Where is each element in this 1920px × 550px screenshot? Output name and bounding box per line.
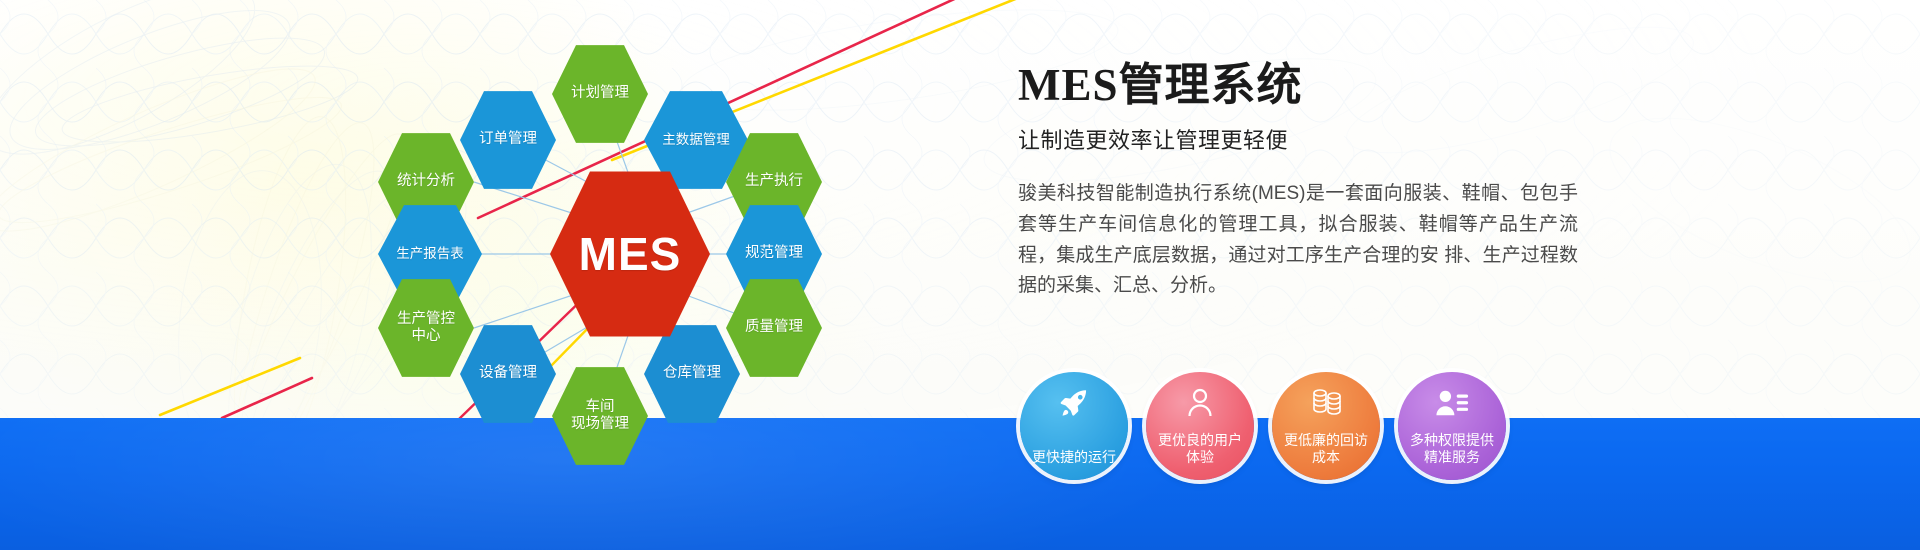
hex-label: 车间现场管理 <box>565 399 635 433</box>
badge-label: 更快捷的运行 <box>1024 449 1124 466</box>
rocket-icon <box>1057 386 1091 420</box>
mes-hexagon-diagram: 计划管理 订单管理 主数据管理 统计分析 生产执行 生产报告表 规范管理 生产管… <box>400 10 860 450</box>
badge-label: 多种权限提供精准服务 <box>1402 432 1502 466</box>
badge-label: 更优良的用户体验 <box>1150 432 1250 466</box>
user-list-icon <box>1435 386 1469 420</box>
badge-label: 更低廉的回访成本 <box>1276 432 1376 466</box>
badge-multi-permission-service[interactable]: 多种权限提供精准服务 <box>1398 372 1506 480</box>
mes-banner: 计划管理 订单管理 主数据管理 统计分析 生产执行 生产报告表 规范管理 生产管… <box>0 0 1920 550</box>
hex-label: 生产管控中心 <box>391 311 461 345</box>
hex-label: 主数据管理 <box>656 132 736 148</box>
hex-label: 计划管理 <box>565 85 635 102</box>
hex-label: 规范管理 <box>739 245 809 262</box>
hex-label: 设备管理 <box>473 365 543 382</box>
badge-better-user-experience[interactable]: 更优良的用户体验 <box>1146 372 1254 480</box>
hex-label: 统计分析 <box>391 173 461 190</box>
bottom-blue-band <box>0 418 1920 550</box>
hex-label: 生产执行 <box>739 173 809 190</box>
feature-badge-list: 更快捷的运行 更优良的用户体验 <box>1020 372 1506 480</box>
hex-label: 生产报告表 <box>390 246 470 262</box>
coins-icon <box>1309 386 1343 420</box>
badge-faster-operation[interactable]: 更快捷的运行 <box>1020 372 1128 480</box>
description-paragraph: 骏美科技智能制造执行系统(MES)是一套面向服装、鞋帽、包包手套等生产车间信息化… <box>1018 179 1578 302</box>
badge-lower-revisit-cost[interactable]: 更低廉的回访成本 <box>1272 372 1380 480</box>
hex-label: 订单管理 <box>473 131 543 148</box>
hex-center-label: MES <box>573 227 688 281</box>
hex-label: 质量管理 <box>739 319 809 336</box>
user-icon <box>1183 386 1217 420</box>
hex-label: 仓库管理 <box>657 365 727 382</box>
page-title: MES管理系统 <box>1018 48 1638 113</box>
page-subtitle: 让制造更效率让管理更轻便 <box>1018 123 1638 155</box>
headline-block: MES管理系统 让制造更效率让管理更轻便 骏美科技智能制造执行系统(MES)是一… <box>1018 48 1638 302</box>
